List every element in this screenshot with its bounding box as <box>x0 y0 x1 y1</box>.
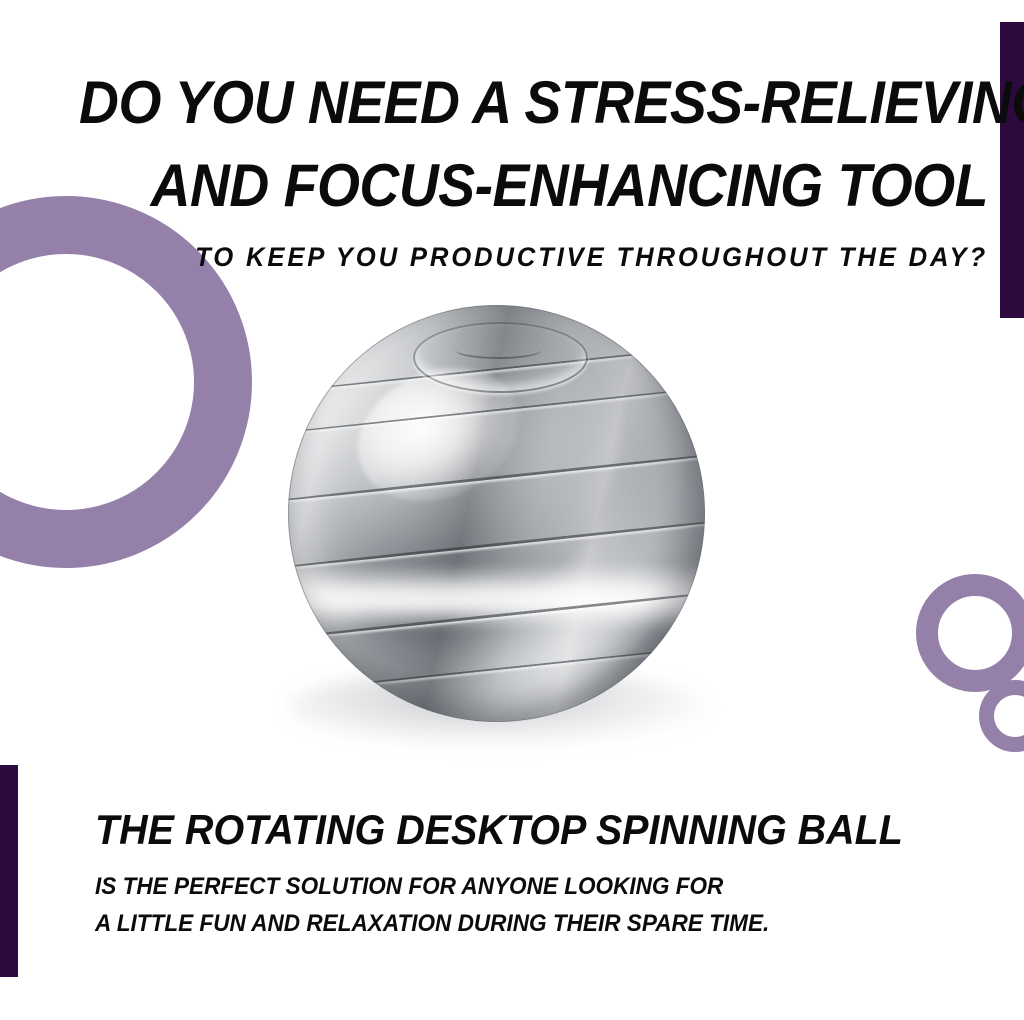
product-image <box>270 296 730 756</box>
footer-title: THE ROTATING DESKTOP SPINNING BALL <box>95 806 903 854</box>
decor-bar-bottom-left <box>0 765 18 977</box>
sphere-bright-band <box>288 564 705 631</box>
headline-line-2: AND FOCUS-ENHANCING TOOL <box>79 145 988 228</box>
promo-poster: DO YOU NEED A STRESS-RELIEVING AND FOCUS… <box>0 0 1024 1020</box>
headline-subline: TO KEEP YOU PRODUCTIVE THROUGHOUT THE DA… <box>49 242 988 273</box>
spinning-ball-sphere <box>288 305 705 722</box>
headline-line-1: DO YOU NEED A STRESS-RELIEVING <box>79 62 988 145</box>
footer-subline-1: IS THE PERFECT SOLUTION FOR ANYONE LOOKI… <box>95 870 903 905</box>
footer-block: THE ROTATING DESKTOP SPINNING BALL IS TH… <box>95 806 955 942</box>
decor-bar-top-right <box>1000 22 1024 318</box>
headline-block: DO YOU NEED A STRESS-RELIEVING AND FOCUS… <box>0 62 988 273</box>
footer-subline-2: A LITTLE FUN AND RELAXATION DURING THEIR… <box>95 907 903 942</box>
decor-ring-bottom-right-large <box>916 574 1024 692</box>
